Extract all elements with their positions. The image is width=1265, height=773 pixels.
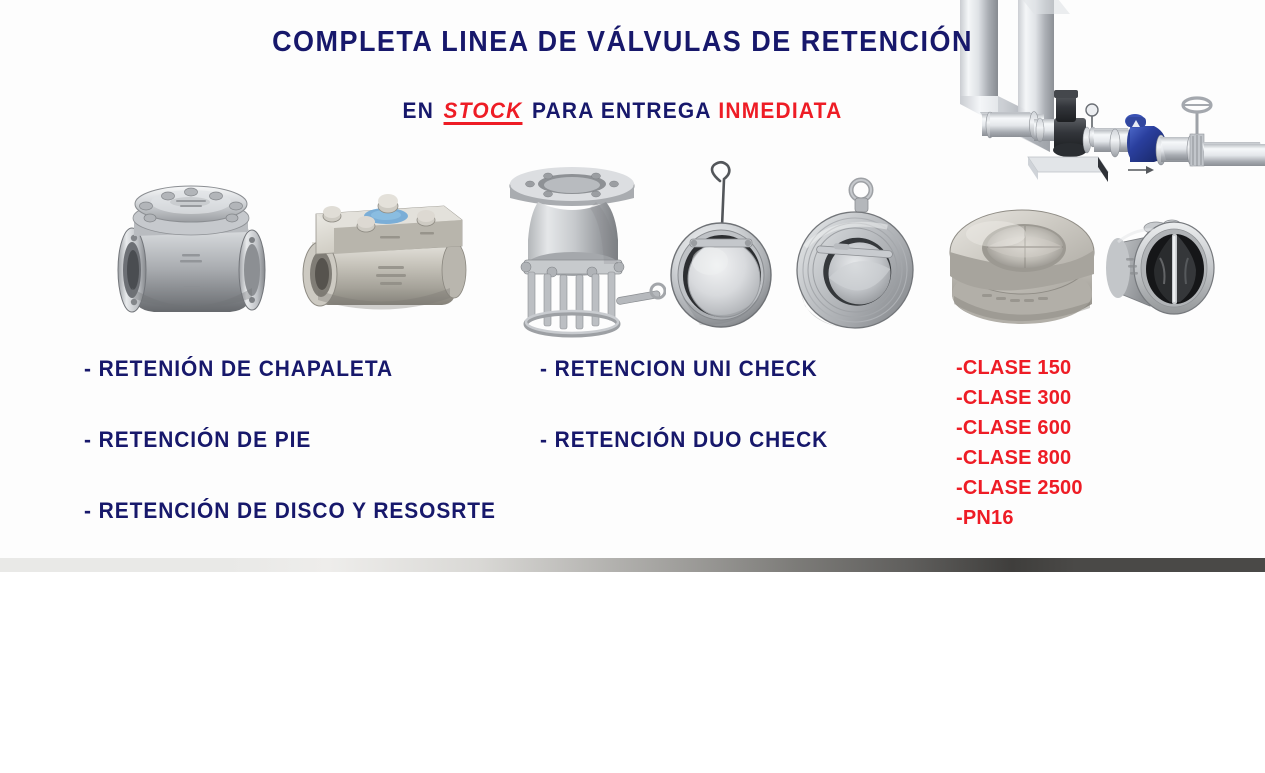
list-item: -CLASE 600 [956,413,1083,443]
class-rating-list: -CLASE 150 -CLASE 300 -CLASE 600 -CLASE … [956,353,1083,533]
page-subtitle: ENSTOCKPARA ENTREGAINMEDIATA [31,98,1214,124]
wafer-disc-check-valve-angled [783,166,933,341]
list-item: -CLASE 800 [956,443,1083,473]
dual-plate-check-valve-open [1098,202,1226,330]
slide-root: COMPLETA LINEA DE VÁLVULAS DE RETENCIÓN … [0,0,1265,773]
subtitle-en: EN [403,98,435,123]
forged-steel-check-valve [294,162,474,337]
list-item: - RETENIÓN DE CHAPALETA [84,356,531,382]
page-title: COMPLETA LINEA DE VÁLVULAS DE RETENCIÓN [44,26,1202,59]
subtitle-inmediata-highlight: INMEDIATA [718,98,842,123]
subtitle-para-entrega: PARA ENTREGA [532,98,712,123]
bottom-gradient-band [0,558,1265,572]
list-item: - RETENCION UNI CHECK [540,356,920,382]
list-item: - RETENCIÓN DUO CHECK [540,427,920,453]
list-item: -CLASE 150 [956,353,1083,383]
list-item: -PN16 [956,503,1083,533]
swing-check-valve-flanged [90,158,290,338]
product-list-middle: - RETENCION UNI CHECK - RETENCIÓN DUO CH… [540,356,940,453]
list-item: -CLASE 300 [956,383,1083,413]
foot-valve-with-strainer [486,152,666,342]
dual-plate-wafer-check-valve [940,190,1105,335]
list-item: - RETENCIÓN DE PIE [84,427,531,453]
list-item: - RETENCIÓN DE DISCO Y RESOSRTE [84,498,531,524]
list-item: -CLASE 2500 [956,473,1083,503]
slide-footer-area [0,572,1265,773]
subtitle-stock-highlight: STOCK [441,98,526,123]
wafer-single-disc-check-valve [658,155,788,335]
product-list-left: - RETENIÓN DE CHAPALETA - RETENCIÓN DE P… [84,356,554,524]
